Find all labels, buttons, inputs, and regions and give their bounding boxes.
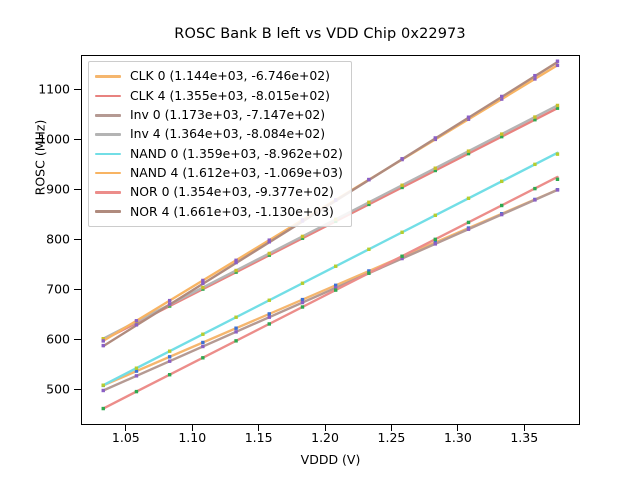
legend-label: NOR 0 (1.354e+03, -9.377e+02) <box>130 186 334 198</box>
data-point <box>556 104 559 107</box>
y-tick-mark <box>74 89 81 90</box>
x-tick-mark <box>325 424 326 431</box>
data-point <box>367 272 370 275</box>
y-tick-label: 700 <box>46 282 70 297</box>
data-point <box>467 149 470 152</box>
y-axis-tick-labels: 50060070080090010001100 <box>0 0 70 480</box>
data-point <box>434 167 437 170</box>
data-point <box>234 261 237 264</box>
data-point <box>400 255 403 258</box>
data-point <box>556 152 559 155</box>
y-axis-label: ROSC (MHz) <box>33 88 48 228</box>
data-point <box>334 265 337 268</box>
data-point <box>500 180 503 183</box>
legend-color-swatch <box>95 133 121 136</box>
data-point <box>168 299 171 302</box>
data-point <box>201 286 204 289</box>
data-point <box>234 339 237 342</box>
legend-label: CLK 0 (1.144e+03, -6.746e+02) <box>130 70 330 82</box>
legend-item[interactable]: CLK 4 (1.355e+03, -8.015e+02) <box>95 86 343 105</box>
x-tick-label: 1.25 <box>378 430 406 445</box>
y-tick-mark <box>74 189 81 190</box>
legend-label: NAND 0 (1.359e+03, -8.962e+02) <box>130 148 343 160</box>
data-point <box>367 201 370 204</box>
data-point <box>301 282 304 285</box>
data-point <box>500 204 503 207</box>
data-point <box>467 221 470 224</box>
data-point <box>168 373 171 376</box>
data-point <box>500 95 503 98</box>
data-point <box>201 341 204 344</box>
y-tick-label: 600 <box>46 332 70 347</box>
x-tick-label: 1.20 <box>311 430 339 445</box>
legend-item[interactable]: Inv 0 (1.173e+03, -7.147e+02) <box>95 106 343 125</box>
data-point <box>234 327 237 330</box>
data-point <box>102 344 105 347</box>
data-point <box>367 178 370 181</box>
data-point <box>533 115 536 118</box>
data-point <box>556 60 559 63</box>
legend-label: Inv 4 (1.364e+03, -8.084e+02) <box>130 128 325 140</box>
x-axis-label: VDDD (V) <box>81 452 580 467</box>
data-point <box>434 214 437 217</box>
legend-item[interactable]: NOR 4 (1.661e+03, -1.130e+03) <box>95 202 343 221</box>
x-tick-mark <box>391 424 392 431</box>
legend-color-swatch <box>95 75 121 78</box>
data-point <box>434 136 437 139</box>
data-point <box>400 184 403 187</box>
data-point <box>168 360 171 363</box>
data-point <box>168 350 171 353</box>
data-point <box>201 333 204 336</box>
data-point <box>434 242 437 245</box>
data-point <box>234 316 237 319</box>
data-point <box>400 157 403 160</box>
legend-color-swatch <box>95 172 121 175</box>
data-point <box>135 390 138 393</box>
legend-label: NAND 4 (1.612e+03, -1.069e+03) <box>130 167 343 179</box>
data-point <box>556 188 559 191</box>
data-point <box>467 228 470 231</box>
data-point <box>268 240 271 243</box>
legend-item[interactable]: NAND 0 (1.359e+03, -8.962e+02) <box>95 144 343 163</box>
y-tick-label: 500 <box>46 382 70 397</box>
y-tick-label: 800 <box>46 232 70 247</box>
data-point <box>301 305 304 308</box>
x-tick-label: 1.30 <box>444 430 472 445</box>
data-point <box>533 74 536 77</box>
data-point <box>168 355 171 358</box>
data-point <box>168 302 171 305</box>
data-point <box>268 312 271 315</box>
legend-item[interactable]: CLK 0 (1.144e+03, -6.746e+02) <box>95 67 343 86</box>
chart-legend: CLK 0 (1.144e+03, -6.746e+02)CLK 4 (1.35… <box>88 61 352 227</box>
data-point <box>135 374 138 377</box>
data-point <box>533 187 536 190</box>
y-tick-mark <box>74 139 81 140</box>
data-point <box>201 356 204 359</box>
data-point <box>135 323 138 326</box>
legend-item[interactable]: NOR 0 (1.354e+03, -9.377e+02) <box>95 183 343 202</box>
data-point <box>367 248 370 251</box>
data-point <box>135 367 138 370</box>
x-tick-mark <box>125 424 126 431</box>
data-point <box>268 322 271 325</box>
y-tick-mark <box>74 339 81 340</box>
legend-color-swatch <box>95 114 121 117</box>
data-point <box>234 330 237 333</box>
data-point <box>268 252 271 255</box>
page-title: ROSC Bank B left vs VDD Chip 0x22973 <box>0 26 640 42</box>
x-tick-label: 1.15 <box>245 430 273 445</box>
x-tick-mark <box>457 424 458 431</box>
y-tick-mark <box>74 239 81 240</box>
x-tick-mark <box>258 424 259 431</box>
y-tick-label: 900 <box>46 182 70 197</box>
x-tick-mark <box>524 424 525 431</box>
data-point <box>234 269 237 272</box>
legend-color-swatch <box>95 95 121 98</box>
data-point <box>301 301 304 304</box>
legend-label: CLK 4 (1.355e+03, -8.015e+02) <box>130 90 330 102</box>
data-point <box>556 178 559 181</box>
legend-color-swatch <box>95 191 121 194</box>
x-tick-mark <box>192 424 193 431</box>
data-point <box>500 132 503 135</box>
data-point <box>533 198 536 201</box>
y-tick-mark <box>74 389 81 390</box>
legend-label: NOR 4 (1.661e+03, -1.130e+03) <box>130 206 334 218</box>
data-point <box>102 389 105 392</box>
data-point <box>201 282 204 285</box>
legend-item[interactable]: Inv 4 (1.364e+03, -8.084e+02) <box>95 125 343 144</box>
x-tick-label: 1.05 <box>112 430 140 445</box>
data-point <box>301 235 304 238</box>
data-point <box>400 231 403 234</box>
data-point <box>467 116 470 119</box>
data-point <box>102 384 105 387</box>
data-point <box>268 316 271 319</box>
data-point <box>268 299 271 302</box>
x-tick-label: 1.35 <box>510 430 538 445</box>
data-point <box>334 288 337 291</box>
data-point <box>135 319 138 322</box>
legend-item[interactable]: NAND 4 (1.612e+03, -1.069e+03) <box>95 163 343 182</box>
data-point <box>201 345 204 348</box>
matplotlib-figure: ROSC Bank B left vs VDD Chip 0x22973 500… <box>0 0 640 480</box>
legend-color-swatch <box>95 210 121 213</box>
x-tick-label: 1.10 <box>178 430 206 445</box>
legend-label: Inv 0 (1.173e+03, -7.147e+02) <box>130 109 325 121</box>
data-point <box>533 163 536 166</box>
y-tick-mark <box>74 289 81 290</box>
data-point <box>102 339 105 342</box>
data-point <box>467 197 470 200</box>
data-point <box>500 213 503 216</box>
data-point <box>434 238 437 241</box>
data-point <box>102 407 105 410</box>
legend-color-swatch <box>95 153 121 156</box>
